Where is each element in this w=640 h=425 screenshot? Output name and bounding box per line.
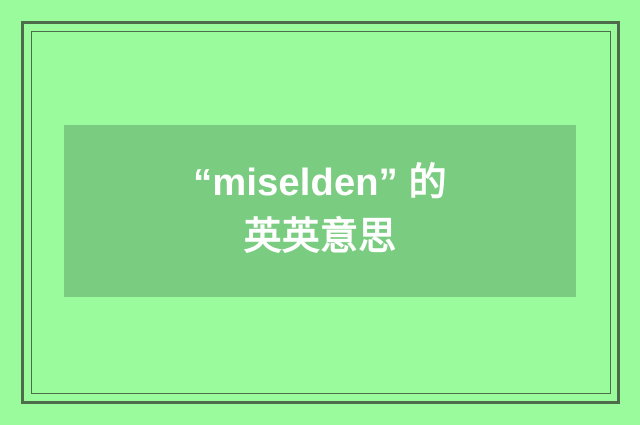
page-canvas: “miselden” 的英英意思: [0, 0, 640, 425]
banner-title-text: “miselden” 的英英意思: [184, 157, 456, 265]
title-banner: “miselden” 的英英意思: [64, 125, 576, 297]
